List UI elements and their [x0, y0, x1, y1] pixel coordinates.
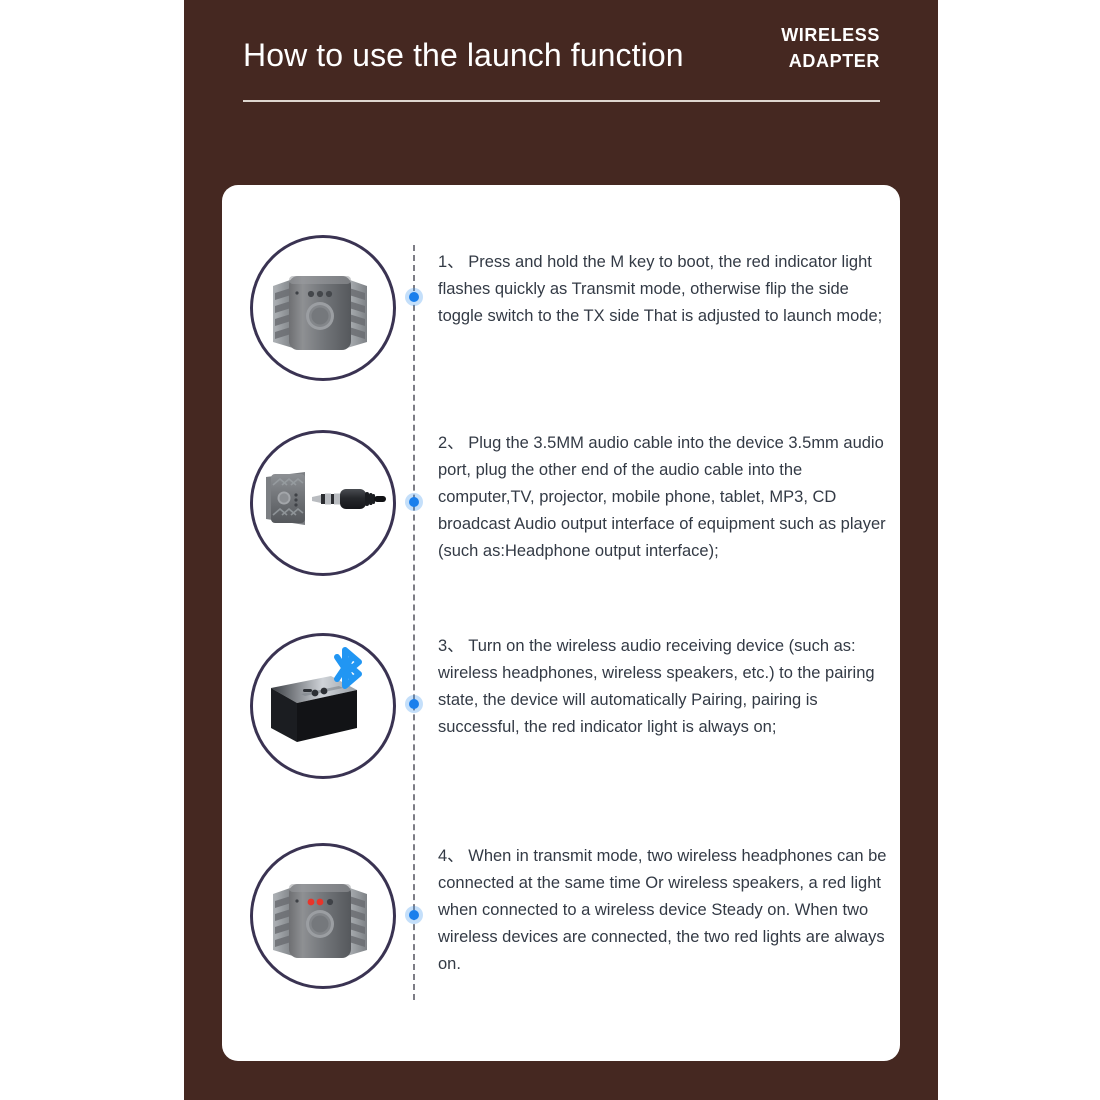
page-title: How to use the launch function [243, 36, 684, 74]
brand-label-line1: WIRELESS [781, 22, 880, 48]
step-4-marker-dot [405, 906, 423, 924]
transmitter-device-red-leds-icon [253, 846, 387, 980]
step-2-text: 2、 Plug the 3.5MM audio cable into the d… [438, 430, 890, 565]
content-card: 1、 Press and hold the M key to boot, the… [222, 185, 900, 1061]
step-1-text: 1、 Press and hold the M key to boot, the… [438, 249, 890, 330]
transmitter-device-front-icon [253, 238, 387, 372]
step-4-text: 4、 When in transmit mode, two wireless h… [438, 843, 890, 978]
step-2-marker-dot [405, 493, 423, 511]
header: How to use the launch function WIRELESS … [243, 0, 880, 104]
step-2-illustration-circle [250, 430, 396, 576]
step-1-illustration-circle [250, 235, 396, 381]
wireless-speaker-bluetooth-icon [253, 636, 387, 770]
step-4-illustration-circle [250, 843, 396, 989]
brand-label: WIRELESS ADAPTER [781, 22, 880, 74]
audio-cable-connection-icon [253, 433, 387, 567]
bluetooth-icon [337, 650, 359, 686]
dashed-timeline-connector [413, 245, 415, 1000]
header-divider [243, 100, 880, 102]
step-3-text: 3、 Turn on the wireless audio receiving … [438, 633, 890, 741]
step-3-illustration-circle [250, 633, 396, 779]
page-root: How to use the launch function WIRELESS … [0, 0, 1100, 1100]
step-3-marker-dot [405, 695, 423, 713]
step-1-marker-dot [405, 288, 423, 306]
brand-label-line2: ADAPTER [781, 48, 880, 74]
